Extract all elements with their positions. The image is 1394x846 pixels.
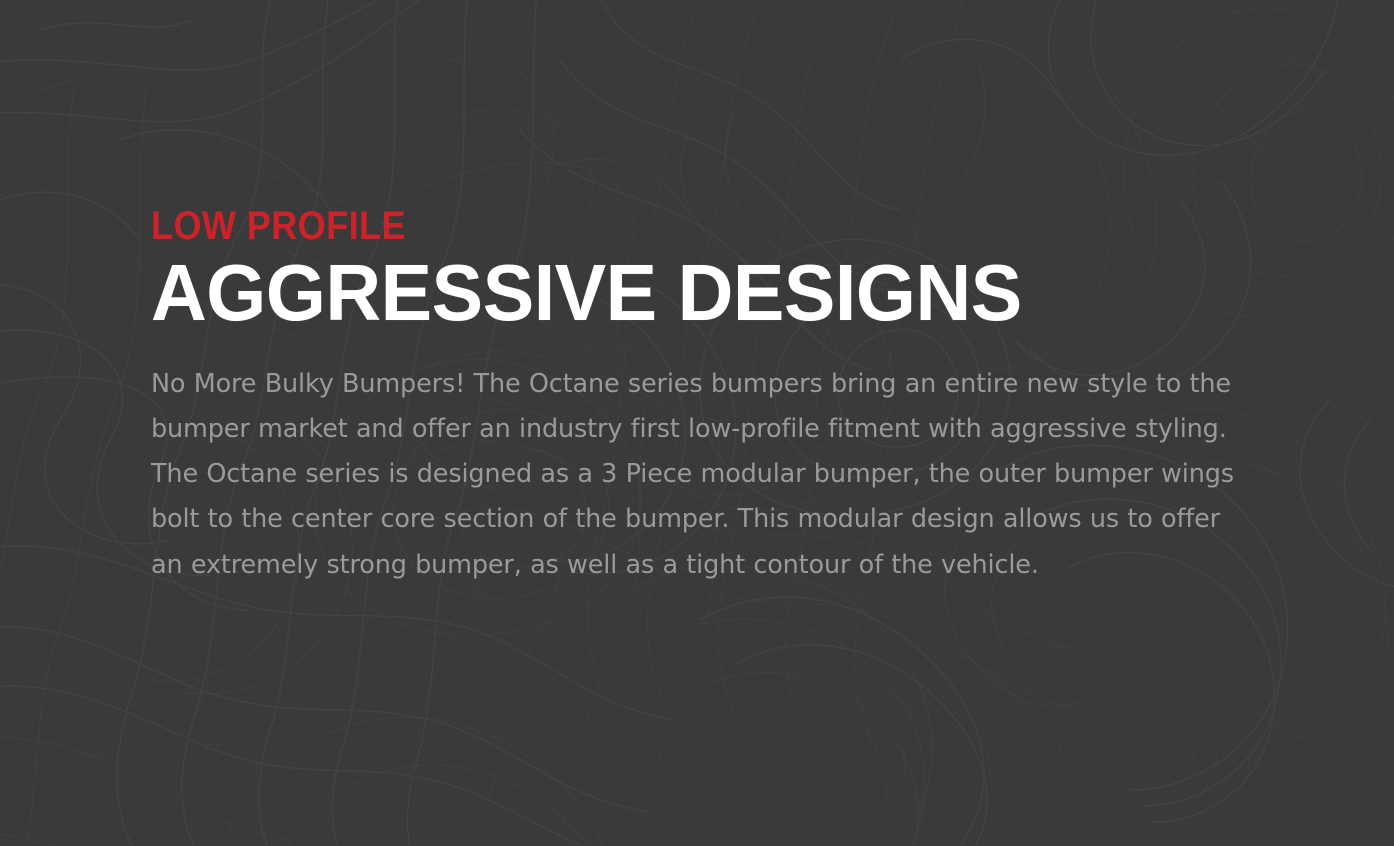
page-title: AGGRESSIVE DESIGNS bbox=[151, 255, 1222, 332]
body-paragraph: No More Bulky Bumpers! The Octane series… bbox=[151, 362, 1249, 588]
hero-section: LOW PROFILE AGGRESSIVE DESIGNS No More B… bbox=[0, 0, 1394, 846]
hero-text-block: LOW PROFILE AGGRESSIVE DESIGNS No More B… bbox=[151, 206, 1261, 588]
eyebrow-heading: LOW PROFILE bbox=[151, 206, 1150, 246]
